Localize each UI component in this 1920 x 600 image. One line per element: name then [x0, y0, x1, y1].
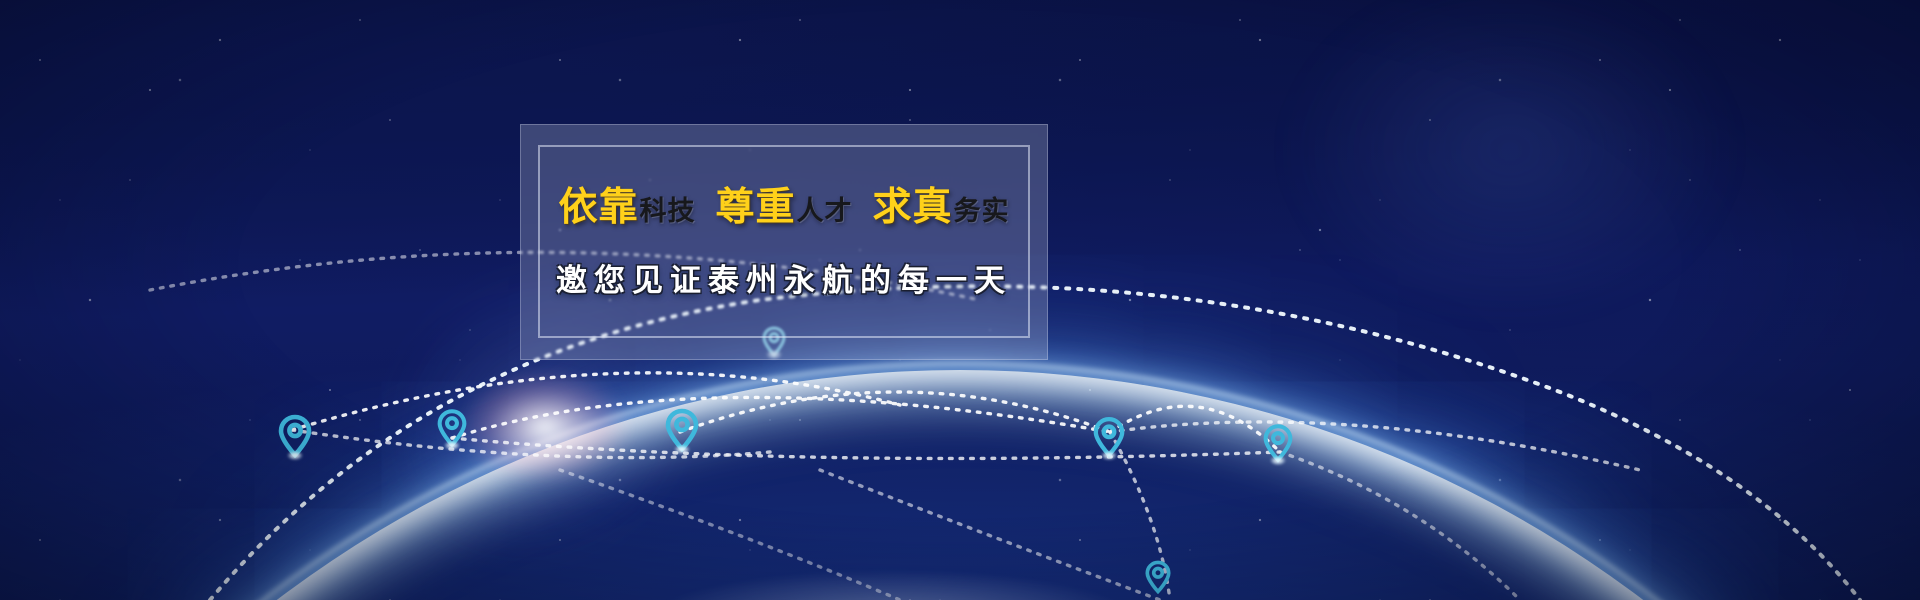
headline-segment-5: 求真: [873, 188, 953, 227]
banner-hero: 依靠 科技 尊重 人才 求真 务实 邀您见证泰州永航的每一天: [0, 0, 1920, 600]
slogan-panel: 依靠 科技 尊重 人才 求真 务实 邀您见证泰州永航的每一天: [520, 124, 1048, 360]
headline-segment-1: 依靠: [558, 188, 638, 227]
headline-segment-3: 尊重: [715, 188, 795, 227]
headline-segment-2: 科技: [639, 198, 695, 225]
headline-segment-6: 务实: [954, 198, 1010, 225]
panel-content: 依靠 科技 尊重 人才 求真 务实 邀您见证泰州永航的每一天: [521, 125, 1047, 359]
headline-segment-4: 人才: [797, 198, 853, 225]
subline-slogan: 邀您见证泰州永航的每一天: [556, 255, 1012, 300]
headline-slogan: 依靠 科技 尊重 人才 求真 务实: [558, 188, 1009, 227]
